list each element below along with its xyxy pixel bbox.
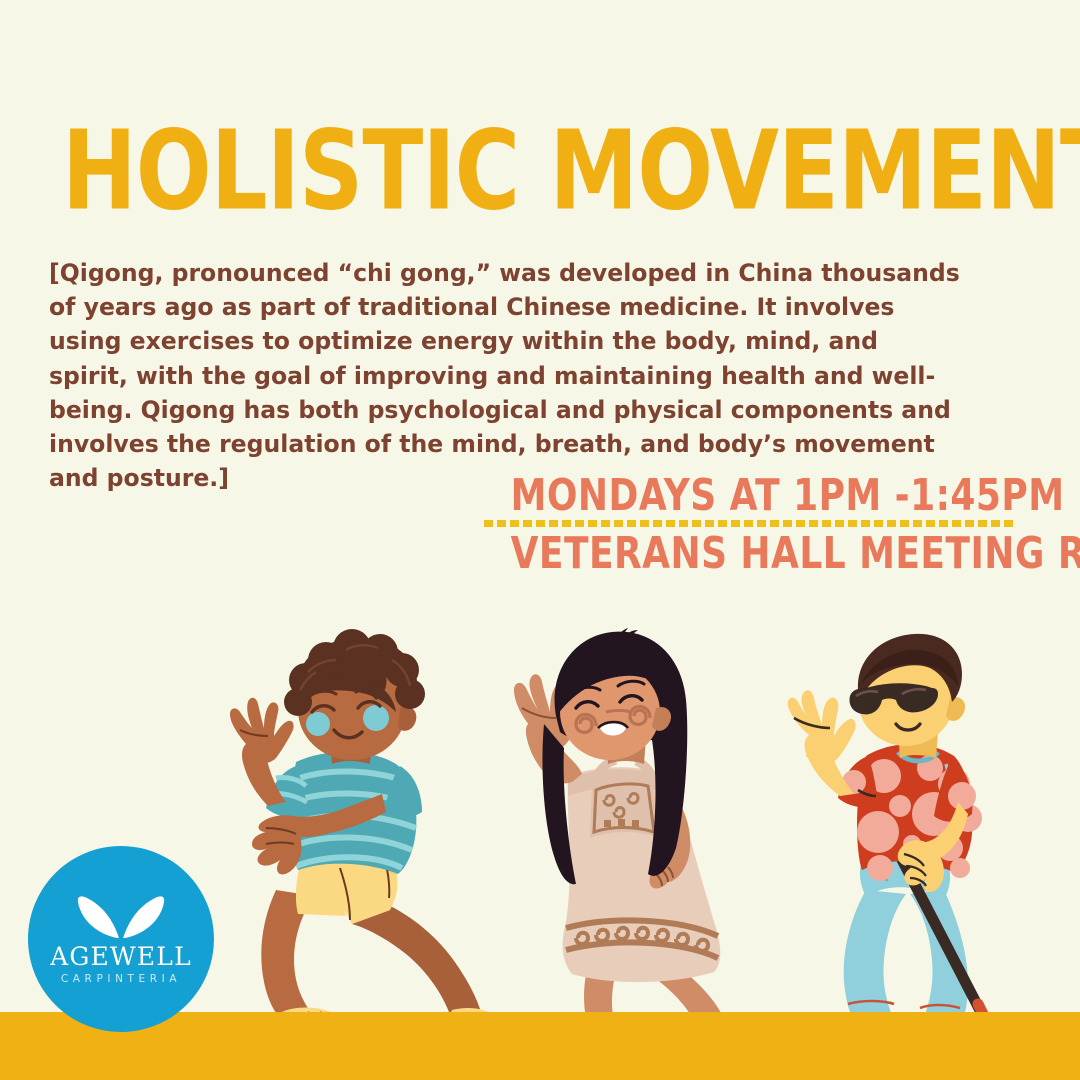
poster-canvas: HOLISTIC MOVEMENT [Qigong, pronounced “c…: [0, 0, 1080, 1080]
schedule-block: MONDAYS AT 1PM -1:45PM VETERANS HALL MEE…: [484, 472, 1016, 574]
schedule-time: MONDAYS AT 1PM -1:45PM: [511, 472, 990, 520]
logo-subtitle: CARPINTERIA: [61, 974, 181, 985]
logo-name: AGEWELL: [50, 944, 192, 969]
description-paragraph: [Qigong, pronounced “chi gong,” was deve…: [49, 256, 960, 495]
schedule-location: VETERANS HALL MEETING ROOM: [511, 530, 990, 578]
agewell-logo-badge: AGEWELL CARPINTERIA: [28, 846, 214, 1032]
dashed-divider: [484, 520, 1016, 527]
figure-2-group: [514, 628, 741, 1044]
figure-3-group: [788, 634, 992, 1048]
page-title: HOLISTIC MOVEMENT: [62, 116, 955, 225]
figure-1-group: [230, 629, 497, 1040]
two-leaves-icon: [73, 886, 169, 940]
